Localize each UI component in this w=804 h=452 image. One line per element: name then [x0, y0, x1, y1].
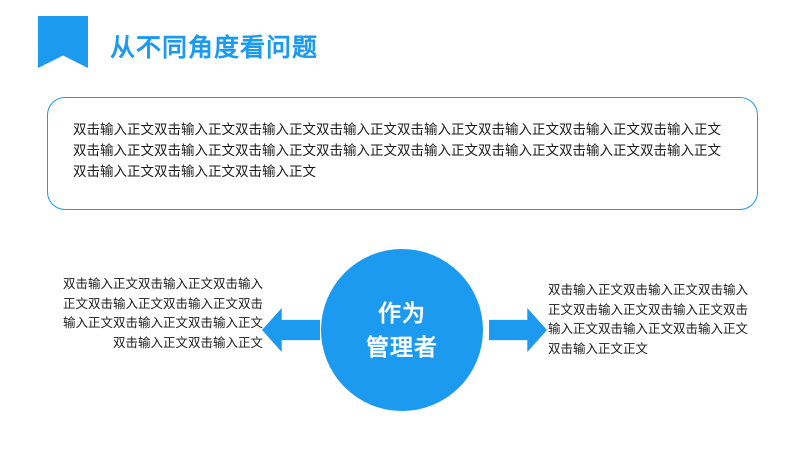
left-description-text: 双击输入正文双击输入正文双击输入正文双击输入正文双击输入正文双击输入正文双击输入…	[58, 275, 263, 353]
center-circle-line-2: 管理者	[366, 330, 438, 364]
ribbon-bookmark-icon	[38, 16, 88, 68]
right-description-text: 双击输入正文双击输入正文双击输入正文双击输入正文双击输入正文双击输入正文双击输入…	[548, 281, 758, 359]
page-title: 从不同角度看问题	[110, 28, 318, 64]
arrow-left-icon	[262, 308, 320, 352]
arrow-right-icon	[489, 308, 547, 352]
top-description-box: 双击输入正文双击输入正文双击输入正文双击输入正文双击输入正文双击输入正文双击输入…	[47, 97, 758, 210]
center-circle-node: 作为 管理者	[321, 249, 483, 411]
slide-title-bar: 从不同角度看问题	[0, 0, 804, 90]
center-circle-line-1: 作为	[378, 296, 426, 330]
top-description-text: 双击输入正文双击输入正文双击输入正文双击输入正文双击输入正文双击输入正文双击输入…	[73, 119, 733, 182]
